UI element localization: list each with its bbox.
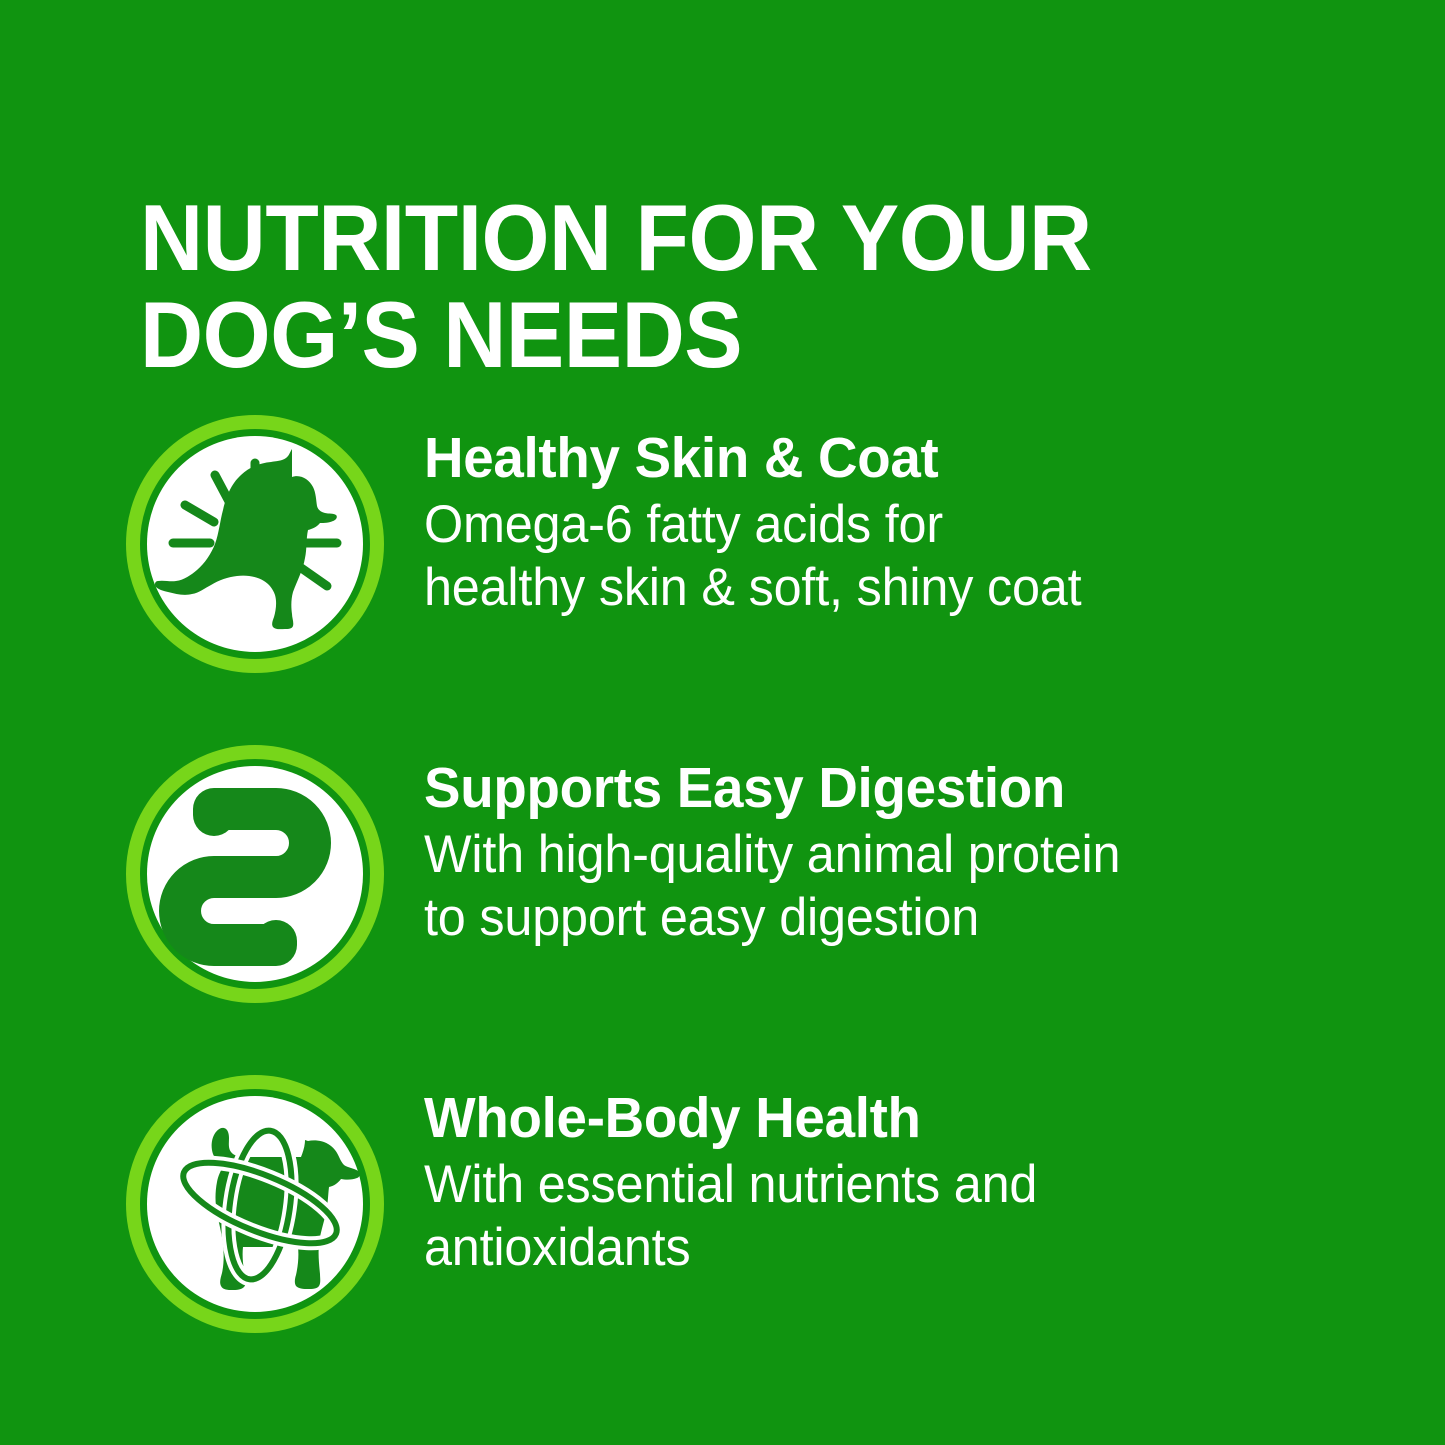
orbiting-dog-icon xyxy=(126,1075,384,1333)
feature-description: With high-quality animal protein to supp… xyxy=(424,823,1317,949)
feature-title: Healthy Skin & Coat xyxy=(424,427,1326,489)
intestine-icon xyxy=(126,745,384,1003)
feature-title: Supports Easy Digestion xyxy=(424,757,1326,819)
feature-description: Omega-6 fatty acids for healthy skin & s… xyxy=(424,493,1317,619)
feature-title: Whole-Body Health xyxy=(424,1087,1326,1149)
feature-row: Supports Easy Digestion With high-qualit… xyxy=(0,745,1445,1015)
feature-description: With essential nutrients and antioxidant… xyxy=(424,1153,1317,1279)
feature-text: Supports Easy Digestion With high-qualit… xyxy=(424,745,1364,949)
nutrition-benefits-panel: NUTRITION FOR YOUR DOG’S NEEDS xyxy=(0,0,1445,1445)
feature-text: Whole-Body Health With essential nutrien… xyxy=(424,1075,1364,1279)
feature-row: Whole-Body Health With essential nutrien… xyxy=(0,1075,1445,1345)
feature-row: Healthy Skin & Coat Omega-6 fatty acids … xyxy=(0,415,1445,685)
shiny-dog-icon xyxy=(126,415,384,673)
page-title: NUTRITION FOR YOUR DOG’S NEEDS xyxy=(140,189,1237,383)
feature-text: Healthy Skin & Coat Omega-6 fatty acids … xyxy=(424,415,1364,619)
